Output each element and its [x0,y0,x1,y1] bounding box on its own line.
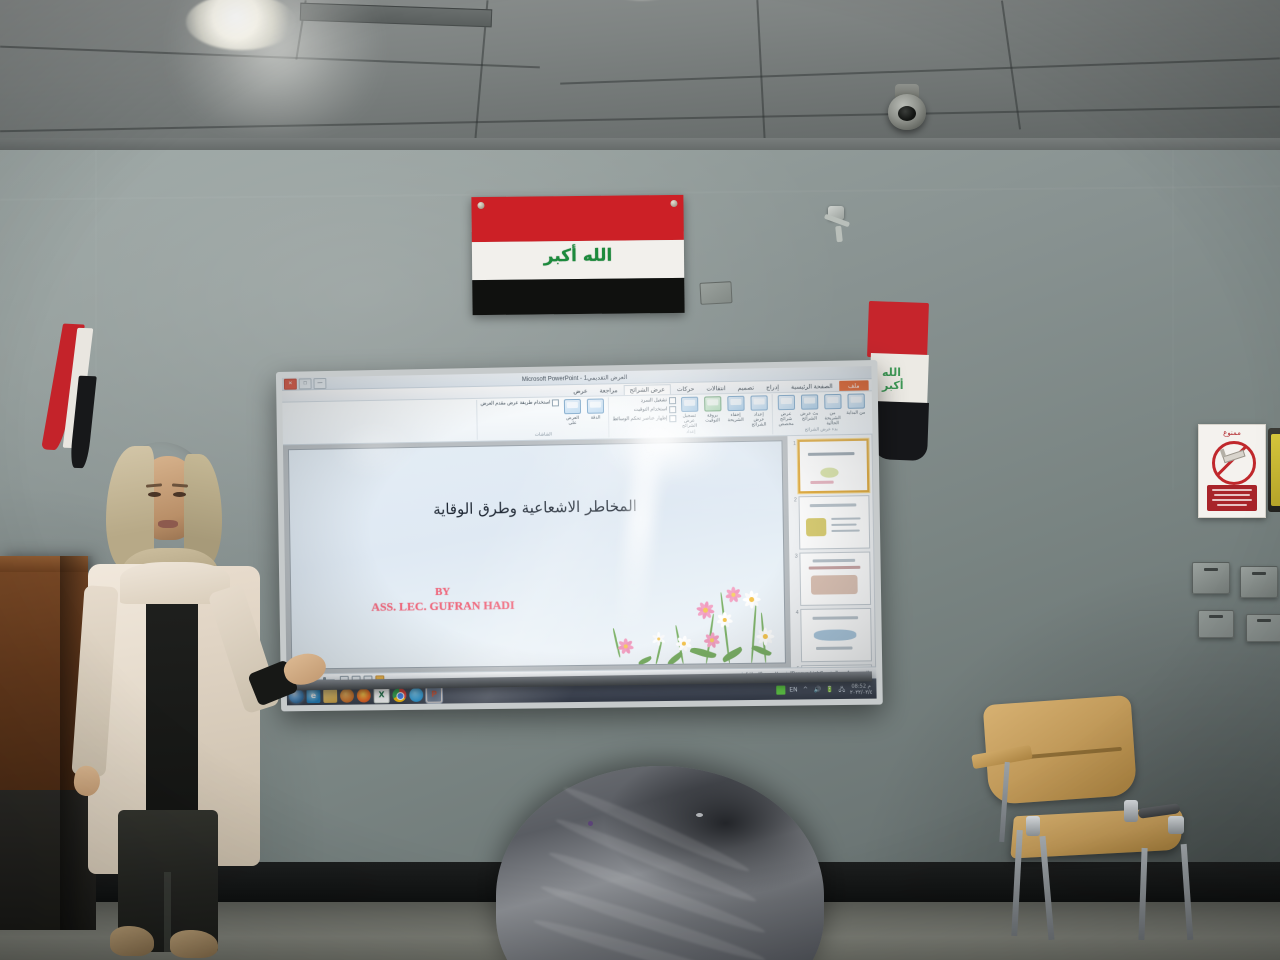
from-current-slide-icon [824,394,841,409]
tab-slideshow[interactable]: عرض الشرائح [623,384,670,395]
eye-left [148,492,161,497]
powerpoint-icon[interactable]: P [426,686,442,702]
language-bar-icon[interactable]: EN [789,686,797,694]
wall-socket-1 [1192,562,1230,594]
powerpoint-window[interactable]: — □ ✕ العرض التقديمي1 - Microsoft PowerP… [282,366,877,705]
wall-plate [699,281,732,305]
daisy-pink [702,631,720,649]
ribbon-button-show-on[interactable]: العرض على [562,399,582,425]
sign-body [1207,485,1257,511]
flag-inscription: الله أكبر [472,244,684,266]
whiteboard-projection-screen[interactable]: — □ ✕ العرض التقديمي1 - Microsoft PowerP… [276,360,883,711]
slide-title[interactable]: المخاطر الاشعاعية وطرق الوقاية [319,495,753,520]
show-on-monitor-icon [564,399,581,414]
close-icon[interactable]: ✕ [284,379,297,390]
daisy-pink [695,600,715,620]
tab-file[interactable]: ملف [839,380,869,391]
clock[interactable]: 08:52 م ٢٠٢٢/٠٢/٤ [850,683,873,695]
chair-frame-bracket-1 [1124,800,1138,822]
checkbox-presenter-view[interactable]: استخدام طريقة عرض مقدم العرض [480,399,559,408]
shoe-right [170,930,218,958]
chair-frame-bracket-2 [1026,816,1040,836]
wall-socket-4 [1246,614,1280,642]
wall-hook [820,206,860,244]
slide-author-block[interactable]: BY ASS. LEC. GUFRAN HADI [315,584,570,615]
thumbnail-row[interactable]: 4 [793,608,871,662]
editor-body: 1 2 [283,435,876,674]
author-name: ASS. LEC. GUFRAN HADI [316,597,571,615]
custom-slideshow-icon [777,395,794,410]
hide-slide-icon [727,396,744,411]
ribbon-button-setup-show[interactable]: إعداد عرض الشرائح [748,395,769,427]
ribbon-group-start-slideshow: من البداية من الشريحة الحالية بث عرض الش… [772,392,870,434]
slide-thumbnail-3[interactable] [800,552,871,606]
thumbnail-row[interactable]: 1 [791,439,869,494]
ribbon-button-resolution[interactable]: الدقة [585,398,605,419]
checkbox-icon[interactable] [669,415,676,422]
checkbox-icon[interactable] [669,406,676,413]
media-player-icon[interactable] [340,688,354,702]
checkbox-icon[interactable] [669,397,676,404]
firefox-icon[interactable] [357,688,371,702]
checkbox-play-narration[interactable]: تشغيل السرد [612,397,676,405]
chrome-icon[interactable] [392,688,406,702]
tray-app-icon[interactable] [776,686,785,695]
shoe-left [110,926,154,956]
daisy-pink [725,585,743,603]
volume-icon[interactable]: 🔊 [813,686,821,694]
daisy-pink [617,638,634,655]
tab-insert[interactable]: إدراج [760,382,785,393]
wall-strip-decoration [1268,428,1280,512]
ribbon-group-label: إعداد [686,429,695,435]
checkbox-show-media-controls[interactable]: إظهار عناصر تحكم الوسائط [613,415,677,423]
ribbon-button-rehearse[interactable]: بروفة التوقيت [702,396,723,422]
setup-checkboxes[interactable]: تشغيل السرد استخدام التوقيت إظهار عناصر … [612,397,676,423]
tab-view[interactable]: عرض [567,386,593,397]
tab-design[interactable]: تصميم [732,382,761,393]
network-icon[interactable]: 🖧 [838,685,846,693]
wall-socket-2 [1240,566,1278,598]
wooden-chair[interactable] [972,700,1252,940]
slide-stage[interactable]: المخاطر الاشعاعية وطرق الوقاية BY ASS. L… [283,436,791,673]
clock-date: ٢٠٢٢/٠٢/٤ [850,689,873,695]
chair-leg-3 [1138,848,1147,940]
hijab-highlight [696,813,703,817]
from-beginning-icon [847,393,864,408]
mouth [158,520,178,528]
ribbon-group-label: الشاشات [535,431,552,437]
minimize-icon[interactable]: — [313,378,326,389]
presenter [66,436,336,960]
classroom-photo: الله أكبر الله أكبر ممنوع [0,0,1280,960]
battery-icon[interactable]: 🔋 [826,685,834,693]
daisy-white [716,611,734,629]
setup-slideshow-icon [750,395,767,410]
ribbon-group-label: بدء عرض الشرائح [805,426,838,433]
flower-decoration [555,547,785,665]
slide-thumbnail-pane[interactable]: 1 2 [788,435,876,668]
wall-socket-3 [1198,610,1234,638]
no-smoking-sign: ممنوع [1198,424,1266,518]
slide-thumbnail-2[interactable] [799,495,870,549]
chair-frame-bracket-3 [1168,816,1184,834]
current-slide[interactable]: المخاطر الاشعاعية وطرق الوقاية BY ASS. L… [288,440,786,669]
daisy-white [741,590,761,610]
system-tray[interactable]: EN ^ 🔊 🔋 🖧 08:52 م ٢٠٢٢/٠٢/٤ [776,683,875,696]
prohibition-icon [1212,441,1256,485]
checkbox-use-timings[interactable]: استخدام التوقيت [612,406,676,414]
slide-thumbnail-4[interactable] [801,608,872,662]
tab-home[interactable]: الصفحة الرئيسية [785,381,839,392]
ribbon-button-broadcast[interactable]: بث عرض الشرائح [799,394,820,421]
ceiling [0,0,1280,150]
rehearse-timings-icon [704,396,721,411]
ribbon-group-setup: إعداد عرض الشرائح إخفاء الشريحة بروفة ال… [608,394,772,437]
slide-thumbnail-1[interactable] [798,439,869,494]
ribbon-button-custom-show[interactable]: عرض شرائح مخصص [776,395,797,427]
ribbon-button-from-beginning[interactable]: من البداية [845,393,866,415]
hijab-pin [588,821,593,826]
show-hidden-icons-icon[interactable]: ^ [801,686,809,694]
chair-leg-4 [1181,844,1194,940]
tab-animations[interactable]: حركات [671,384,701,395]
window-controls[interactable]: — □ ✕ [284,378,327,390]
maximize-icon[interactable]: □ [299,378,312,389]
window-title: العرض التقديمي1 - Microsoft PowerPoint [522,373,628,382]
daisy-white [675,634,693,652]
resolution-icon [587,398,604,413]
ceiling-dome-camera [884,84,930,146]
eye-right [173,492,186,497]
ribbon-button-record[interactable]: تسجيل عرض الشرائح [679,397,700,428]
tab-transitions[interactable]: انتقالات [700,383,731,394]
ribbon-button-from-current[interactable]: من الشريحة الحالية [822,394,843,426]
iraqi-flag: الله أكبر [471,195,684,315]
ribbon-button-hide-slide[interactable]: إخفاء الشريحة [725,396,746,422]
broadcast-globe-icon [800,394,817,409]
record-slideshow-icon [681,397,698,412]
checkbox-icon[interactable] [552,399,559,406]
tab-review[interactable]: مراجعة [593,385,623,396]
daisy-white [652,632,666,646]
sign-title: ممنوع [1199,429,1265,437]
thumbnail-row[interactable]: 3 [793,552,871,606]
ribbon-group-monitors: الدقة العرض على استخدام طريقة عرض مقدم ا… [476,397,608,439]
daisy-white [755,626,775,646]
thumbnail-row[interactable]: 2 [792,495,870,549]
telegram-icon[interactable] [409,687,423,701]
